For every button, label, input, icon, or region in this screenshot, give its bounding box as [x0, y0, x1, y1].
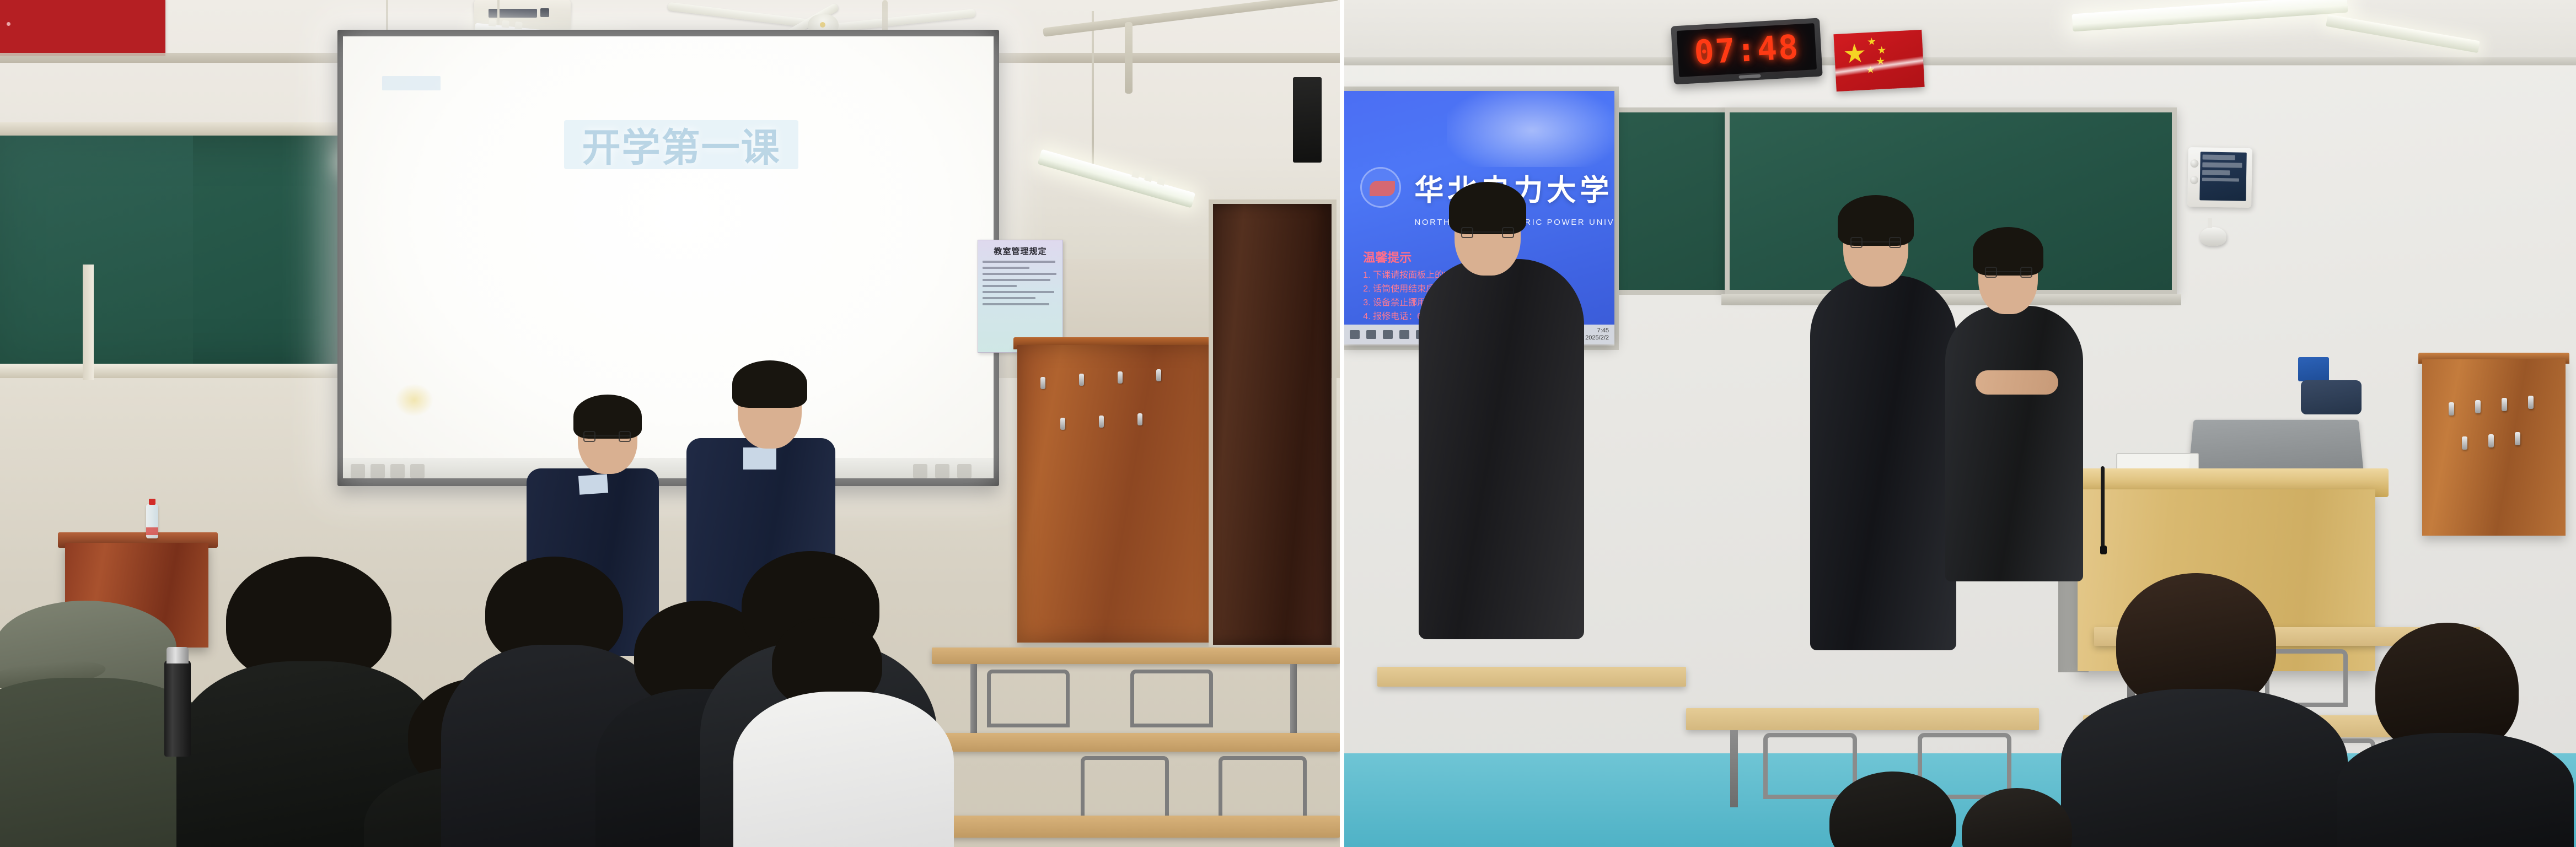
blue-box — [2298, 357, 2329, 381]
projection-screen-frame: 开学第一课 — [337, 30, 999, 486]
cornice-trim — [1344, 57, 2576, 65]
ceiling-pipe — [1125, 22, 1133, 94]
security-camera-icon — [2200, 227, 2226, 246]
student-chair — [1081, 756, 1169, 819]
panel-divider — [1340, 0, 1344, 847]
chalkboard-top-trim — [0, 122, 364, 136]
blue-bag — [2301, 380, 2362, 414]
gesturing-hand — [1976, 370, 2058, 395]
red-wall-band — [0, 0, 165, 56]
chalkboard-divider — [83, 265, 94, 380]
right-photo: 07:48 华北电力大学 NORTH CHINA ELECTRIC POWER … — [1344, 0, 2576, 847]
student-chair — [987, 670, 1070, 727]
poster-title: 教室管理规定 — [983, 245, 1058, 257]
coat-rack — [2422, 359, 2566, 536]
chalkboard-left-panel2 — [0, 134, 193, 371]
gooseneck-microphone — [2101, 466, 2105, 549]
classroom-rules-poster: 教室管理规定 — [978, 240, 1063, 353]
classroom-door[interactable] — [1213, 204, 1332, 645]
chalkboard-bottom-rail — [0, 364, 380, 378]
slide-cloud-graphic — [1447, 91, 1614, 167]
wall-speaker — [1293, 77, 1322, 163]
poster-body — [983, 261, 1058, 305]
chalkboard-rail — [1721, 294, 2181, 305]
student-desk — [926, 733, 1340, 752]
taskbar-clock[interactable]: 7:45 2025/2/2 — [1585, 327, 1609, 341]
screen-glare — [395, 384, 433, 417]
student-desk — [937, 816, 1340, 838]
thermos-flask — [164, 660, 191, 757]
photo-pair-stage: 开学第一课 教室管理规定 — [0, 0, 2576, 847]
taskbar-time: 7:45 — [1585, 327, 1609, 335]
clock-display: 07:48 — [1677, 23, 1817, 77]
clock-time: 07:48 — [1693, 28, 1800, 73]
slide-title: 开学第一课 — [564, 120, 798, 169]
taskbar-date: 2025/2/2 — [1585, 335, 1609, 342]
student-chair — [1130, 670, 1213, 727]
student-desk — [1377, 667, 1686, 687]
student-desk — [1686, 708, 2039, 730]
light-hanger-rod — [1092, 11, 1094, 171]
student-chair — [1763, 733, 1857, 799]
display-icon[interactable] — [1383, 330, 1393, 339]
projection-screen-left: 开学第一课 — [343, 36, 994, 478]
slide-chip — [382, 76, 441, 90]
chinese-flag-icon — [1833, 30, 1924, 91]
left-photo: 开学第一课 教室管理规定 — [0, 0, 1340, 847]
network-icon[interactable] — [1366, 330, 1376, 339]
wall-cabinet — [1017, 345, 1216, 643]
control-panel-screen — [2199, 152, 2247, 201]
wall-control-panel[interactable] — [2187, 147, 2252, 208]
student-desk — [932, 648, 1340, 664]
slide-taskbar — [343, 458, 994, 478]
student-chair — [1219, 756, 1307, 819]
chalkboard-main — [1725, 107, 2177, 295]
led-wall-clock: 07:48 — [1671, 18, 1822, 85]
chevron-up-icon[interactable] — [1350, 330, 1360, 339]
university-logo-icon — [1360, 167, 1401, 208]
water-bottle — [146, 504, 158, 538]
volume-icon[interactable] — [1399, 330, 1409, 339]
